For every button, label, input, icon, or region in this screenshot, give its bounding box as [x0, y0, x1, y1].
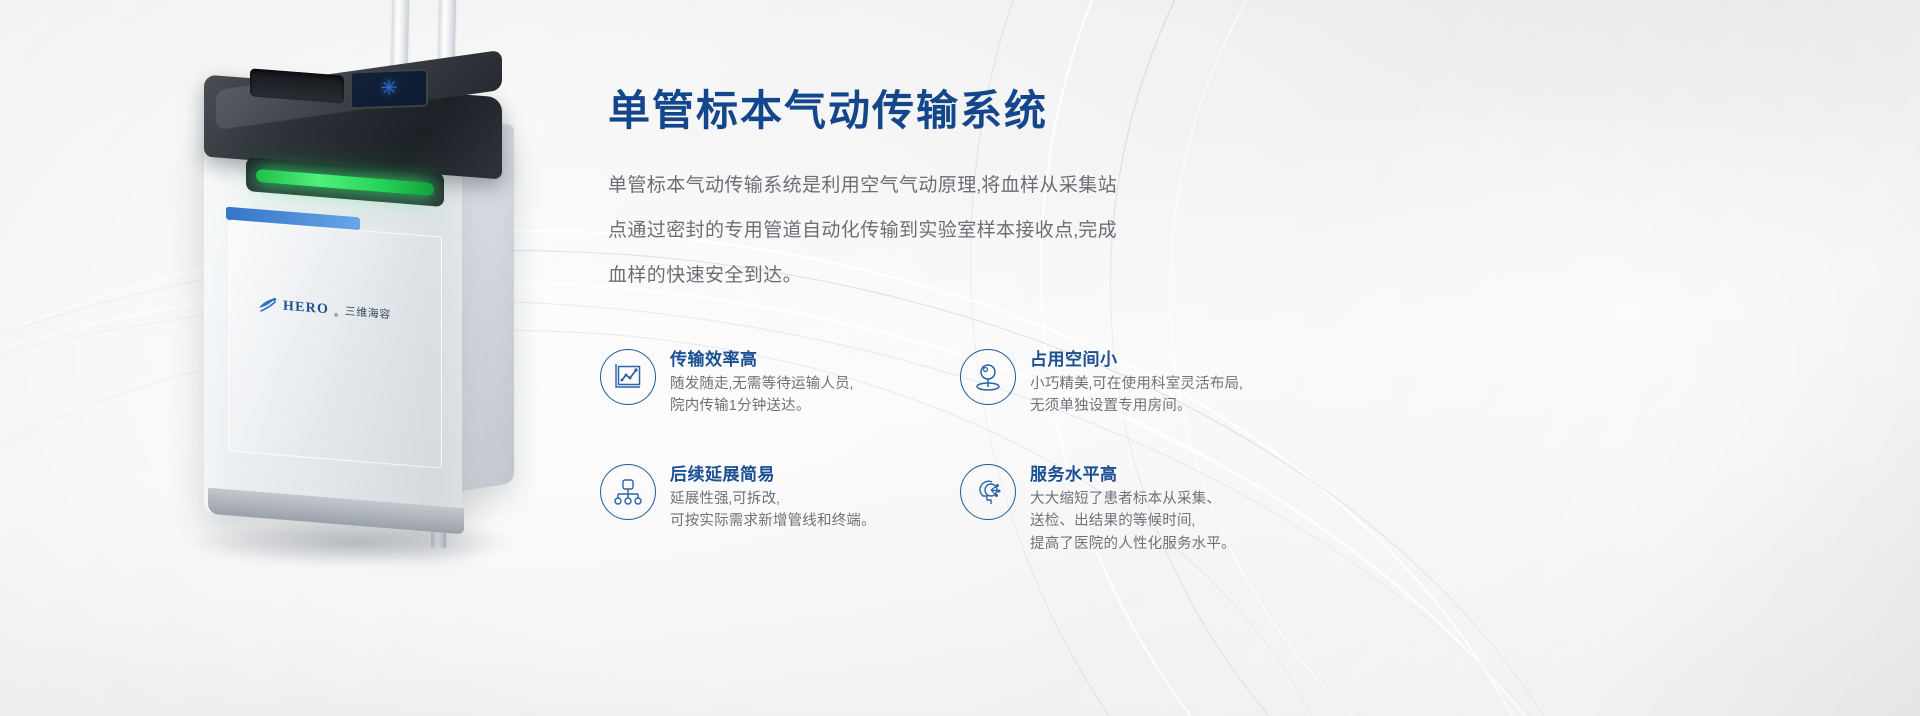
space-pin-icon	[960, 349, 1016, 405]
feature-description: 延展性强‚可拆改‚ 可按实际需求新增管线和终端。	[670, 488, 876, 533]
feature-text: 传输效率高 随发随走‚无需等待运输人员‚ 院内传输1分钟送达。	[670, 345, 853, 418]
feature-title: 传输效率高	[670, 345, 853, 370]
head-service-icon	[960, 464, 1016, 520]
feature-item-transfer-efficiency[interactable]: 传输效率高 随发随走‚无需等待运输人员‚ 院内传输1分钟送达。	[600, 345, 960, 418]
feature-description: 小巧精美‚可在使用科室灵活布局‚ 无须单独设置专用房间。	[1030, 373, 1243, 418]
feature-grid: 传输效率高 随发随走‚无需等待运输人员‚ 院内传输1分钟送达。	[600, 345, 1320, 555]
device-shadow	[190, 520, 520, 566]
device-front-panel	[228, 219, 442, 468]
feature-row-2: 后续延展简易 延展性强‚可拆改‚ 可按实际需求新增管线和终端。	[600, 460, 1320, 555]
feature-line: 无须单独设置专用房间。	[1030, 395, 1243, 417]
hero-text-block: 单管标本气动传输系统 单管标本气动传输系统是利用空气气动原理‚将血样从采集站 点…	[608, 86, 1308, 298]
description-line-3: 血样的快速安全到达。	[608, 254, 1308, 299]
chart-trend-icon	[600, 349, 656, 405]
feature-line: 送检、出结果的等候时间‚	[1030, 510, 1236, 532]
feature-line: 大大缩短了患者标本从采集、	[1030, 488, 1236, 510]
feature-line: 随发随走‚无需等待运输人员‚	[670, 373, 853, 395]
feature-item-small-footprint[interactable]: 占用空间小 小巧精美‚可在使用科室灵活布局‚ 无须单独设置专用房间。	[960, 345, 1320, 418]
feature-text: 后续延展简易 延展性强‚可拆改‚ 可按实际需求新增管线和终端。	[670, 460, 876, 533]
feature-title: 后续延展简易	[670, 460, 876, 485]
feature-text: 服务水平高 大大缩短了患者标本从采集、 送检、出结果的等候时间‚ 提高了医院的人…	[1030, 460, 1236, 555]
feature-description: 随发随走‚无需等待运输人员‚ 院内传输1分钟送达。	[670, 373, 853, 418]
feature-line: 可按实际需求新增管线和终端。	[670, 510, 876, 532]
brand-name-cn: 三维海容	[345, 303, 391, 324]
feature-text: 占用空间小 小巧精美‚可在使用科室灵活布局‚ 无须单独设置专用房间。	[1030, 345, 1243, 418]
feature-line: 小巧精美‚可在使用科室灵活布局‚	[1030, 373, 1243, 395]
network-tree-icon	[600, 464, 656, 520]
brand-trademark: ®	[334, 313, 340, 319]
hero-description: 单管标本气动传输系统是利用空气气动原理‚将血样从采集站 点通过密封的专用管道自动…	[608, 164, 1308, 298]
feature-description: 大大缩短了患者标本从采集、 送检、出结果的等候时间‚ 提高了医院的人性化服务水平…	[1030, 488, 1236, 555]
feature-line: 提高了医院的人性化服务水平。	[1030, 533, 1236, 555]
hero-swoosh-icon	[258, 295, 278, 315]
description-line-1: 单管标本气动传输系统是利用空气气动原理‚将血样从采集站	[608, 164, 1308, 209]
feature-item-easy-extension[interactable]: 后续延展简易 延展性强‚可拆改‚ 可按实际需求新增管线和终端。	[600, 460, 960, 555]
feature-line: 延展性强‚可拆改‚	[670, 488, 876, 510]
feature-row-1: 传输效率高 随发随走‚无需等待运输人员‚ 院内传输1分钟送达。	[600, 345, 1320, 418]
hero-banner: ✳ HERO ® 三维海容 单管标本气动传输系统 单管标本气动传输系统是利用空气…	[0, 0, 1920, 716]
fan-icon: ✳	[376, 76, 402, 103]
page-title: 单管标本气动传输系统	[608, 86, 1308, 136]
description-line-2: 点通过密封的专用管道自动化传输到实验室样本接收点‚完成	[608, 209, 1308, 254]
product-image: ✳ HERO ® 三维海容	[150, 0, 570, 560]
feature-title: 占用空间小	[1030, 345, 1243, 370]
feature-title: 服务水平高	[1030, 460, 1236, 485]
feature-item-service-level[interactable]: 服务水平高 大大缩短了患者标本从采集、 送检、出结果的等候时间‚ 提高了医院的人…	[960, 460, 1320, 555]
device-screen: ✳	[350, 69, 428, 110]
feature-line: 院内传输1分钟送达。	[670, 395, 853, 417]
